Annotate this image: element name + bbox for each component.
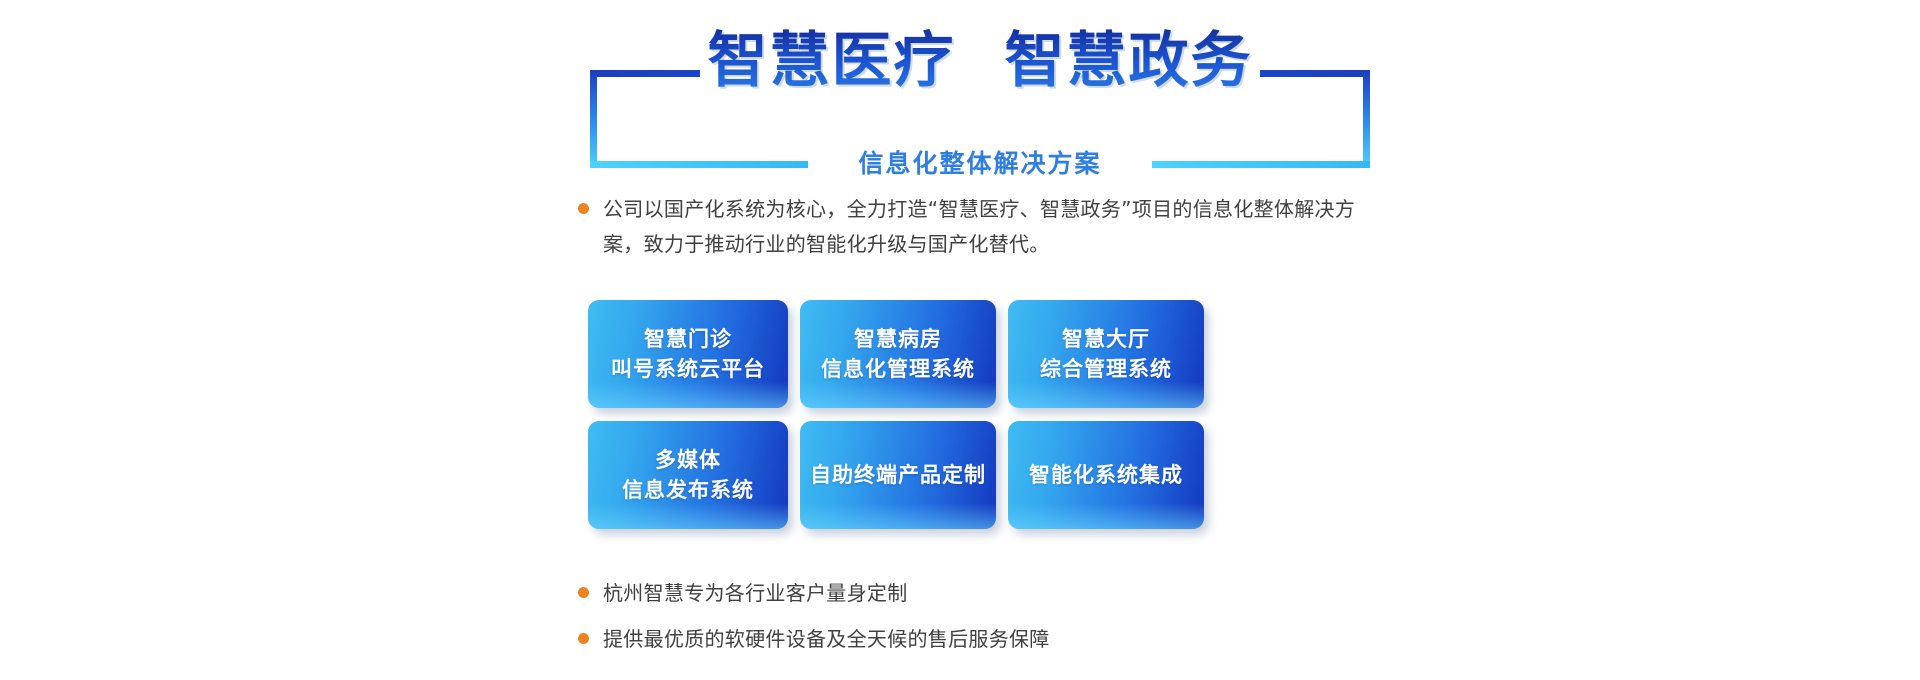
bullet-dot-icon (578, 633, 589, 644)
card-label: 智慧门诊 叫号系统云平台 (611, 324, 765, 384)
header-block: 智慧医疗 智慧政务 信息化整体解决方案 (590, 28, 1370, 150)
card-smart-outpatient[interactable]: 智慧门诊 叫号系统云平台 (588, 300, 788, 408)
feature-bullet-list: 杭州智慧专为各行业客户量身定制 提供最优质的软硬件设备及全天候的售后服务保障 (578, 578, 1398, 670)
card-multimedia-publishing[interactable]: 多媒体 信息发布系统 (588, 421, 788, 529)
card-row-2: 多媒体 信息发布系统 自助终端产品定制 智能化系统集成 (588, 421, 1344, 529)
page-subtitle: 信息化整体解决方案 (590, 146, 1370, 182)
card-intelligent-integration[interactable]: 智能化系统集成 (1008, 421, 1204, 529)
card-smart-hall[interactable]: 智慧大厅 综合管理系统 (1008, 300, 1204, 408)
card-label: 自助终端产品定制 (810, 460, 986, 490)
page-title: 智慧医疗 智慧政务 (590, 28, 1370, 95)
card-label: 智慧大厅 综合管理系统 (1040, 324, 1172, 384)
card-label: 智慧病房 信息化管理系统 (821, 324, 975, 384)
card-label: 多媒体 信息发布系统 (622, 445, 754, 505)
list-item: 提供最优质的软硬件设备及全天候的售后服务保障 (578, 624, 1398, 654)
card-smart-ward[interactable]: 智慧病房 信息化管理系统 (800, 300, 996, 408)
card-row-1: 智慧门诊 叫号系统云平台 智慧病房 信息化管理系统 智慧大厅 综合管理系统 (588, 300, 1344, 408)
intro-paragraph: 公司以国产化系统为核心，全力打造“智慧医疗、智慧政务”项目的信息化整体解决方案，… (578, 192, 1388, 262)
card-self-service-terminal[interactable]: 自助终端产品定制 (800, 421, 996, 529)
bullet-dot-icon (578, 203, 589, 214)
title-part-healthcare: 智慧医疗 (708, 28, 956, 95)
bullet-text: 杭州智慧专为各行业客户量身定制 (603, 578, 908, 608)
title-part-government: 智慧政务 (1004, 28, 1252, 95)
solution-card-grid: 智慧门诊 叫号系统云平台 智慧病房 信息化管理系统 智慧大厅 综合管理系统 多媒… (588, 300, 1344, 542)
intro-text: 公司以国产化系统为核心，全力打造“智慧医疗、智慧政务”项目的信息化整体解决方案，… (603, 192, 1388, 262)
promo-banner: 智慧医疗 智慧政务 信息化整体解决方案 公司以国产化系统为核心，全力打造“智慧医… (0, 0, 1920, 680)
list-item: 杭州智慧专为各行业客户量身定制 (578, 578, 1398, 608)
card-label: 智能化系统集成 (1029, 460, 1183, 490)
bullet-text: 提供最优质的软硬件设备及全天候的售后服务保障 (603, 624, 1050, 654)
bullet-dot-icon (578, 587, 589, 598)
